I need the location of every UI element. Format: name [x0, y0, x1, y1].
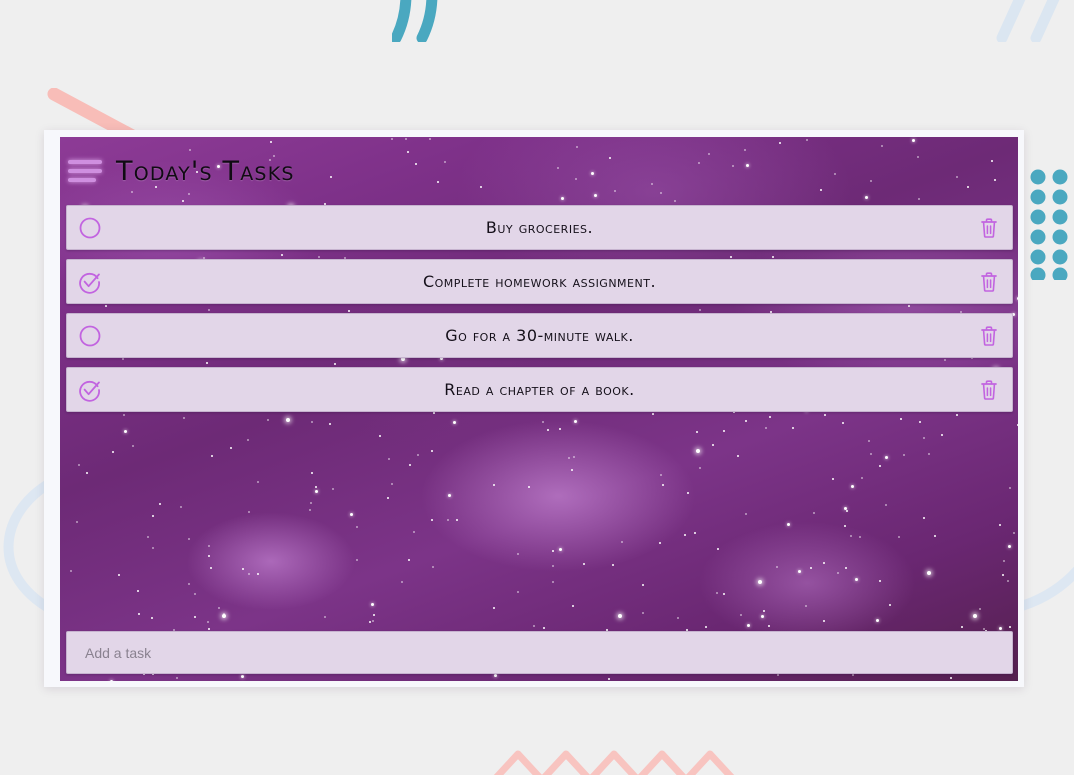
pale-blue-slashes-icon [996, 0, 1074, 42]
circle-outline-icon [78, 216, 102, 240]
task-checkbox-checked[interactable] [67, 270, 113, 294]
todo-app-card: Today's Tasks Buy groceries. [44, 130, 1024, 687]
task-list: Buy groceries. Comp [60, 205, 1018, 421]
circle-check-icon [78, 378, 102, 402]
page-title: Today's Tasks [116, 156, 295, 187]
delete-task-button[interactable] [966, 217, 1012, 239]
galaxy-empty-space [60, 421, 1018, 631]
trash-icon [979, 325, 999, 347]
add-task-input[interactable] [66, 631, 1013, 674]
card-header: Today's Tasks [60, 137, 1018, 205]
pink-zigzag-icon [492, 740, 742, 775]
trash-icon [979, 379, 999, 401]
task-checkbox-unchecked[interactable] [67, 216, 113, 240]
circle-check-icon [78, 270, 102, 294]
delete-task-button[interactable] [966, 271, 1012, 293]
teal-quote-marks-icon [392, 0, 462, 42]
trash-icon [979, 217, 999, 239]
menu-line-3 [68, 178, 96, 182]
menu-line-1 [68, 160, 102, 164]
task-checkbox-checked[interactable] [67, 378, 113, 402]
trash-icon [979, 271, 999, 293]
task-row[interactable]: Buy groceries. [66, 205, 1013, 250]
galaxy-background-panel: Today's Tasks Buy groceries. [60, 137, 1018, 681]
task-label: Go for a 30-minute walk. [113, 326, 966, 345]
delete-task-button[interactable] [966, 379, 1012, 401]
menu-line-2 [68, 169, 102, 173]
hamburger-menu-icon[interactable] [68, 160, 102, 182]
circle-outline-icon [78, 324, 102, 348]
task-row[interactable]: Complete homework assignment. [66, 259, 1013, 304]
task-row[interactable]: Go for a 30-minute walk. [66, 313, 1013, 358]
task-label: Buy groceries. [113, 218, 966, 237]
delete-task-button[interactable] [966, 325, 1012, 347]
task-row[interactable]: Read a chapter of a book. [66, 367, 1013, 412]
teal-dot-grid-icon [1030, 168, 1074, 280]
task-checkbox-unchecked[interactable] [67, 324, 113, 348]
task-label: Complete homework assignment. [113, 272, 966, 291]
add-task-container [60, 631, 1018, 681]
task-label: Read a chapter of a book. [113, 380, 966, 399]
